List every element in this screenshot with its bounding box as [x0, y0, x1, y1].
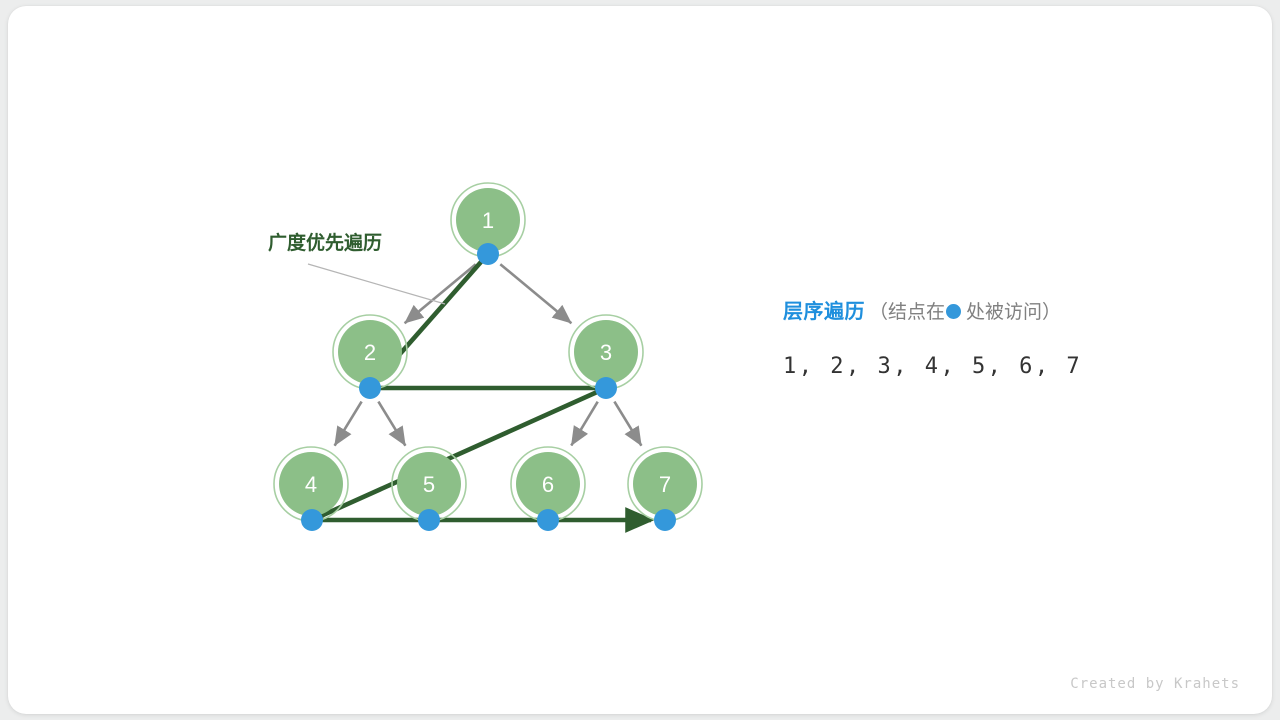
node-4-label: 4: [305, 472, 317, 497]
tree-edge-node-1-to-node-3: [500, 264, 571, 323]
legend-title-row: 层序遍历（结点在处被访问）: [783, 302, 1203, 322]
legend-title: 层序遍历: [783, 301, 865, 323]
node-4-visit-dot[interactable]: [301, 509, 323, 531]
node-7-label: 7: [659, 472, 671, 497]
legend-note-after: 处被访问）: [966, 302, 1061, 323]
node-5-visit-dot[interactable]: [418, 509, 440, 531]
node-2-visit-dot[interactable]: [359, 377, 381, 399]
node-6-visit-dot[interactable]: [537, 509, 559, 531]
callout-leader-group: [308, 264, 445, 304]
bfs-callout-label: 广度优先遍历: [268, 231, 382, 254]
slide-card: 1234567 广度优先遍历 层序遍历（结点在处被访问） 1, 2, 3, 4,…: [8, 6, 1272, 714]
diagram-stage: 1234567 广度优先遍历 层序遍历（结点在处被访问） 1, 2, 3, 4,…: [8, 6, 1272, 714]
watermark-credit: Created by Krahets: [1070, 676, 1240, 692]
node-7-visit-dot[interactable]: [654, 509, 676, 531]
legend-panel: 层序遍历（结点在处被访问） 1, 2, 3, 4, 5, 6, 7: [783, 302, 1203, 379]
node-1-visit-dot[interactable]: [477, 243, 499, 265]
legend-note-before: （结点在: [869, 302, 945, 323]
node-3-label: 3: [600, 340, 612, 365]
node-3-visit-dot[interactable]: [595, 377, 617, 399]
tree-edge-node-3-to-node-7: [614, 402, 641, 446]
tree-edge-node-3-to-node-6: [571, 402, 597, 446]
traversal-sequence: 1, 2, 3, 4, 5, 6, 7: [783, 354, 1203, 379]
node-2-label: 2: [364, 340, 376, 365]
callout-leader-line: [308, 264, 445, 304]
node-1-label: 1: [482, 208, 494, 233]
node-6-label: 6: [542, 472, 554, 497]
tree-edge-node-2-to-node-4: [335, 402, 362, 446]
visit-dot-icon: [946, 304, 961, 319]
node-5-label: 5: [423, 472, 435, 497]
tree-edge-node-1-to-node-2: [405, 264, 476, 323]
tree-edge-node-2-to-node-5: [378, 402, 405, 446]
